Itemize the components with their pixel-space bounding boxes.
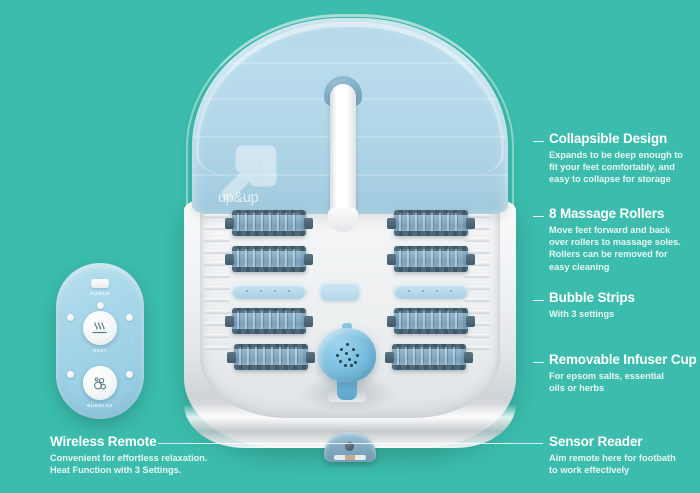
bubbles-indicator-dot[interactable] <box>67 371 74 378</box>
massage-roller <box>232 210 306 236</box>
bubble-strip <box>394 284 468 299</box>
massage-roller <box>392 344 466 370</box>
callout-description: With 3 settings <box>549 308 635 320</box>
leader-bubble-strips <box>533 300 544 301</box>
leader-collapsible-design <box>533 141 544 142</box>
massage-roller <box>232 308 306 334</box>
heat-indicator-dot[interactable] <box>67 314 74 321</box>
bubble-strip <box>232 284 306 299</box>
heat-waves-icon <box>83 311 117 345</box>
infuser-cup-icon[interactable] <box>318 328 376 400</box>
callout-description: Convenient for effortless relaxation. He… <box>50 452 207 477</box>
leader-massage-rollers <box>533 216 544 217</box>
center-pad <box>320 282 360 301</box>
brand-name: up&up <box>218 190 258 206</box>
massage-roller <box>394 246 468 272</box>
callout-sensor-reader: Sensor Reader Aim remote here for footba… <box>549 434 676 476</box>
leader-bottom-connector <box>158 443 543 444</box>
callout-massage-rollers: 8 Massage Rollers Move feet forward and … <box>549 206 681 273</box>
heat-indicator-dot[interactable] <box>126 314 133 321</box>
infuser-perforations <box>336 343 360 367</box>
right-texture-grooves <box>464 214 490 364</box>
heat-label: HEAT <box>56 348 144 353</box>
bubbles-indicator-dot[interactable] <box>126 371 133 378</box>
callout-collapsible-design: Collapsible Design Expands to be deep en… <box>549 131 683 186</box>
callout-title: Removable Infuser Cup <box>549 352 697 368</box>
infographic-canvas: up&up <box>0 0 700 493</box>
leader-infuser-cup <box>533 362 544 363</box>
heat-button[interactable] <box>83 311 117 345</box>
callout-title: Bubble Strips <box>549 290 635 306</box>
callout-description: For epsom salts, essential oils or herbs <box>549 370 697 395</box>
massage-roller <box>234 344 308 370</box>
callout-title: Wireless Remote <box>50 434 207 450</box>
massage-roller <box>232 246 306 272</box>
wireless-remote-device[interactable]: POWER HEAT BUBB <box>56 263 144 419</box>
bubbles-label: BUBBLES <box>56 403 144 408</box>
callout-description: Move feet forward and back over rollers … <box>549 224 681 273</box>
massage-roller <box>394 308 468 334</box>
left-texture-grooves <box>204 214 230 364</box>
callout-wireless-remote: Wireless Remote Convenient for effortles… <box>50 434 207 476</box>
callout-infuser-cup: Removable Infuser Cup For epsom salts, e… <box>549 352 697 394</box>
power-label: POWER <box>56 291 144 296</box>
callout-description: Expands to be deep enough to fit your fe… <box>549 149 683 186</box>
callout-title: Sensor Reader <box>549 434 676 450</box>
callout-bubble-strips: Bubble Strips With 3 settings <box>549 290 635 320</box>
footbath-illustration: up&up <box>178 18 522 450</box>
callout-title: 8 Massage Rollers <box>549 206 681 222</box>
bubbles-icon <box>83 366 117 400</box>
bubbles-button[interactable] <box>83 366 117 400</box>
center-handle <box>330 84 356 220</box>
heat-indicator-dot[interactable] <box>97 302 104 309</box>
callout-description: Aim remote here for footbath to work eff… <box>549 452 676 477</box>
massage-roller <box>394 210 468 236</box>
power-button[interactable] <box>91 279 109 288</box>
callout-title: Collapsible Design <box>549 131 683 147</box>
